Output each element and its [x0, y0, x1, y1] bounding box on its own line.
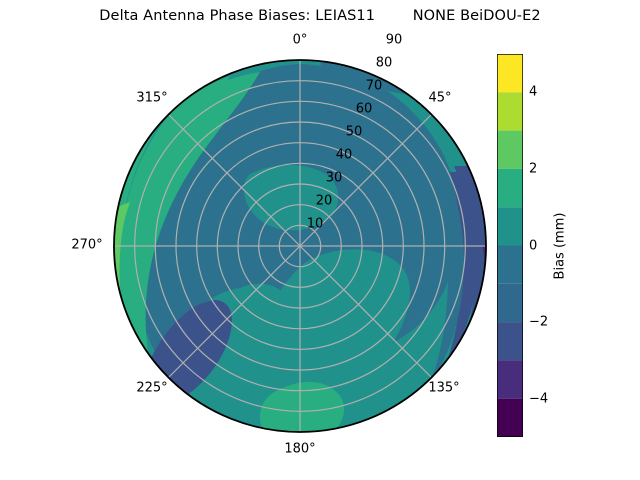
figure-canvas: Delta Antenna Phase Biases: LEIAS11 NONE… — [0, 0, 640, 480]
r-tick-20: 20 — [316, 194, 333, 209]
theta-tick-45: 45° — [428, 91, 451, 106]
polar-grid — [114, 60, 486, 432]
colorbar-axis-label: Bias (mm) — [553, 213, 568, 280]
colorbar-band-2 — [497, 322, 523, 360]
r-tick-10: 10 — [307, 217, 324, 232]
r-tick-70: 70 — [366, 79, 383, 94]
colorbar: 4 2 0 −2 −4 — [497, 54, 523, 437]
theta-tick-0: 0° — [293, 33, 308, 48]
colorbar-band-7 — [497, 131, 523, 169]
colorbar-band-5 — [497, 207, 523, 245]
colorbar-band-3 — [497, 284, 523, 322]
colorbar-svg — [497, 54, 523, 437]
r-tick-50: 50 — [346, 125, 363, 140]
polar-axes: 0° 45° 90° 135° 180° 225° 270° 315° 10 2… — [110, 56, 490, 436]
colorbar-tick-label-4: 4 — [529, 85, 537, 100]
theta-tick-315: 315° — [136, 91, 167, 106]
r-tick-40: 40 — [336, 148, 353, 163]
theta-tick-225: 225° — [136, 381, 167, 396]
colorbar-tick-label-2: 2 — [529, 161, 537, 176]
colorbar-band-6 — [497, 169, 523, 207]
colorbar-band-1 — [497, 360, 523, 398]
colorbar-tick-label-neg4: −4 — [529, 391, 548, 406]
colorbar-tick-label-neg2: −2 — [529, 315, 548, 330]
theta-tick-135: 135° — [428, 381, 459, 396]
theta-tick-270: 270° — [71, 238, 102, 253]
r-tick-30: 30 — [326, 171, 343, 186]
r-tick-60: 60 — [356, 102, 373, 117]
colorbar-band-9 — [497, 54, 523, 92]
r-tick-90: 90 — [386, 33, 403, 48]
r-tick-80: 80 — [376, 56, 393, 71]
figure-title: Delta Antenna Phase Biases: LEIAS11 NONE… — [0, 8, 640, 24]
theta-tick-180: 180° — [284, 442, 315, 457]
colorbar-tick-label-0: 0 — [529, 238, 537, 253]
polar-plot-svg — [110, 56, 490, 436]
colorbar-band-0 — [497, 399, 523, 437]
colorbar-band-8 — [497, 92, 523, 130]
colorbar-band-4 — [497, 246, 523, 284]
